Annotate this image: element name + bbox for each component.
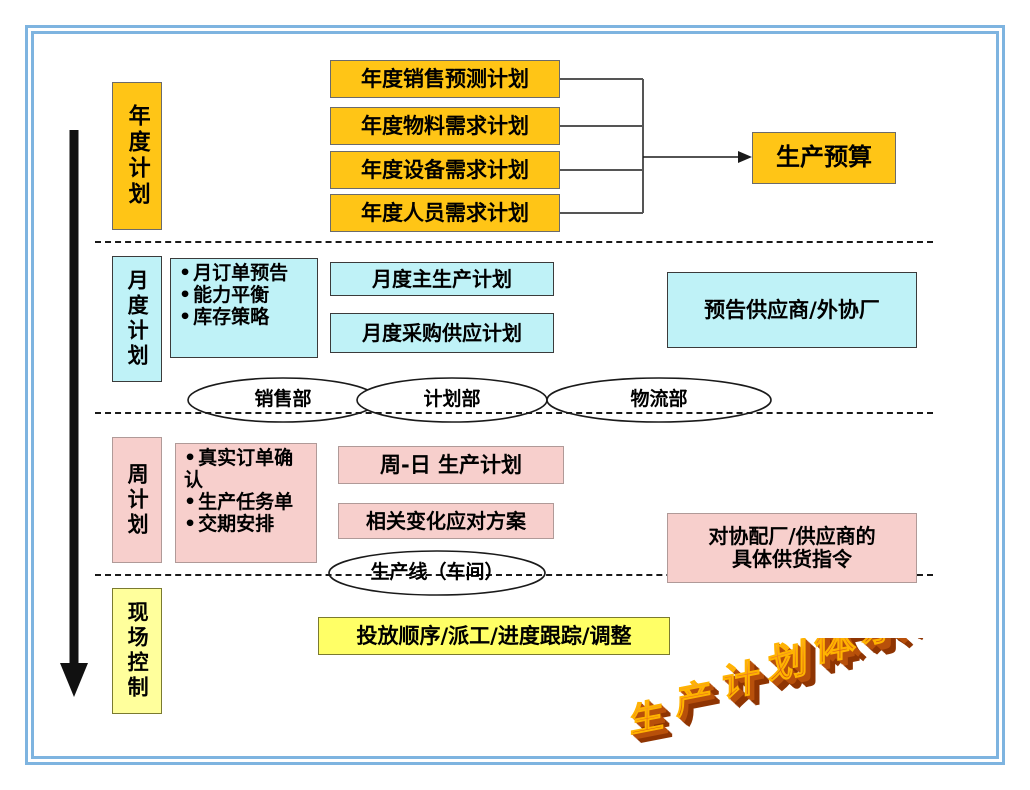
annual-output-production-budget[interactable]: 生产预算 <box>752 132 896 184</box>
tier-separator-annual-monthly <box>95 241 933 243</box>
monthly-bullet-0: 月订单预告 <box>179 263 311 285</box>
weekly-input-bullets: 真实订单确认 生产任务单 交期安排 <box>175 443 317 563</box>
monthly-input-bullets: 月订单预告 能力平衡 库存策略 <box>170 258 318 358</box>
monthly-master-production-plan[interactable]: 月度主生产计划 <box>330 262 554 296</box>
tier-label-onsite: 现场控制 <box>112 588 162 714</box>
slide-canvas: 销售部 计划部 物流部 生产线（车间） 年度计划 年度销售预测计划 年度物料需求… <box>0 0 1030 790</box>
wordart-title: 生生生生生生生生生生生生产产产产产产产产产产产产计计计计计计计计计计计计划划划划… <box>612 638 1012 758</box>
annual-plan-sales-forecast[interactable]: 年度销售预测计划 <box>330 60 560 98</box>
monthly-purchase-supply-plan[interactable]: 月度采购供应计划 <box>330 313 554 353</box>
department-label-planning: 计划部 <box>357 386 547 414</box>
department-label-sales: 销售部 <box>188 386 378 414</box>
supplier-instruction-line-2: 具体供货指令 <box>732 548 852 571</box>
weekly-change-response-plan[interactable]: 相关变化应对方案 <box>338 503 554 539</box>
monthly-bullet-1: 能力平衡 <box>179 285 311 307</box>
monthly-bullet-2: 库存策略 <box>179 307 311 329</box>
svg-text:产: 产 <box>676 674 712 724</box>
supplier-instruction-line-1: 对协配厂/供应商的 <box>708 525 875 548</box>
workshop-label: 生产线（车间） <box>329 559 545 587</box>
weekly-bullet-0: 真实订单确认 <box>184 448 310 492</box>
svg-text:生: 生 <box>630 695 664 741</box>
tier-label-monthly: 月度计划 <box>112 256 162 382</box>
tier-label-weekly: 周计划 <box>112 437 162 563</box>
weekly-bullet-2: 交期安排 <box>184 514 310 536</box>
annual-plan-material-demand[interactable]: 年度物料需求计划 <box>330 107 560 145</box>
weekly-supplier-delivery-instruction[interactable]: 对协配厂/供应商的 具体供货指令 <box>667 513 917 583</box>
svg-text:划: 划 <box>768 638 808 689</box>
svg-text:计: 计 <box>722 655 760 707</box>
monthly-supplier-notice[interactable]: 预告供应商/外协厂 <box>667 272 917 348</box>
annual-plan-equipment-demand[interactable]: 年度设备需求计划 <box>330 151 560 189</box>
tier-label-annual: 年度计划 <box>112 82 162 230</box>
annual-plan-headcount-demand[interactable]: 年度人员需求计划 <box>330 194 560 232</box>
weekly-daily-production-plan[interactable]: 周-日 生产计划 <box>338 446 564 484</box>
department-label-logistics: 物流部 <box>547 386 771 414</box>
weekly-bullet-1: 生产任务单 <box>184 492 310 514</box>
